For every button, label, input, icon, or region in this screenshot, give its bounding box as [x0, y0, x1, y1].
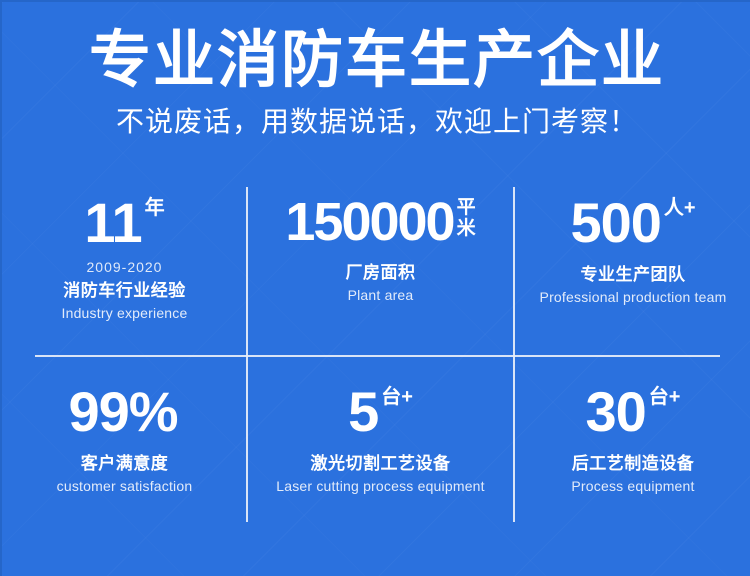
stat-label-en: Laser cutting process equipment — [276, 478, 485, 494]
stat-value: 500 — [570, 195, 660, 251]
stat-unit: 年 — [145, 198, 165, 219]
stat-value: 30 — [586, 384, 646, 440]
stat-label-en: Industry experience — [62, 305, 188, 321]
stat-value: 99% — [68, 384, 177, 440]
promo-poster: 专业消防车生产企业 不说废话，用数据说话，欢迎上门考察！ 11 年 2009-2… — [0, 0, 750, 576]
stat-value-line: 5 台+ — [348, 384, 413, 440]
stat-unit: 平 米 — [457, 197, 476, 240]
stat-label-en: customer satisfaction — [57, 478, 193, 494]
stat-value: 150000 — [285, 195, 453, 249]
stat-cell-customer-satisfaction: 99% 客户满意度 customer satisfaction — [2, 356, 247, 532]
stat-unit-line-2: 米 — [457, 218, 476, 239]
stats-grid: 11 年 2009-2020 消防车行业经验 Industry experien… — [2, 177, 750, 532]
stat-value-line: 30 台+ — [586, 384, 681, 440]
stat-label-cn: 消防车行业经验 — [63, 281, 186, 301]
stat-label-cn: 厂房面积 — [346, 263, 416, 283]
stat-cell-production-team: 500 人+ 专业生产团队 Professional production te… — [514, 177, 750, 356]
stat-cell-industry-experience: 11 年 2009-2020 消防车行业经验 Industry experien… — [2, 177, 247, 356]
stat-cell-laser-cutting-equipment: 5 台+ 激光切割工艺设备 Laser cutting process equi… — [247, 356, 514, 532]
stat-unit: 台+ — [649, 387, 681, 408]
stat-value-line: 500 人+ — [570, 195, 695, 251]
stat-unit: 人+ — [664, 198, 696, 219]
stat-label-cn: 后工艺制造设备 — [572, 454, 695, 474]
stat-value-line: 150000 平 米 — [285, 195, 475, 249]
stat-label-en: Professional production team — [540, 289, 727, 305]
stat-cell-process-equipment: 30 台+ 后工艺制造设备 Process equipment — [514, 356, 750, 532]
stat-cell-plant-area: 150000 平 米 厂房面积 Plant area — [247, 177, 514, 356]
page-title: 专业消防车生产企业 — [2, 2, 750, 95]
poster-header: 专业消防车生产企业 不说废话，用数据说话，欢迎上门考察！ — [2, 2, 750, 139]
stat-value: 11 — [84, 195, 141, 251]
stat-value: 5 — [348, 384, 378, 440]
page-subtitle: 不说废话，用数据说话，欢迎上门考察！ — [2, 95, 750, 139]
stat-value-line: 99% — [68, 384, 180, 440]
stat-label-cn: 专业生产团队 — [581, 265, 686, 285]
stat-label-cn: 激光切割工艺设备 — [311, 454, 451, 474]
stat-year-range: 2009-2020 — [87, 260, 163, 275]
stat-unit-line-1: 平 — [457, 197, 476, 218]
stat-value-line: 11 年 — [84, 195, 164, 251]
stat-label-cn: 客户满意度 — [81, 454, 169, 474]
stat-unit: 台+ — [381, 387, 413, 408]
stat-label-en: Process equipment — [571, 478, 694, 494]
stat-label-en: Plant area — [348, 287, 414, 303]
